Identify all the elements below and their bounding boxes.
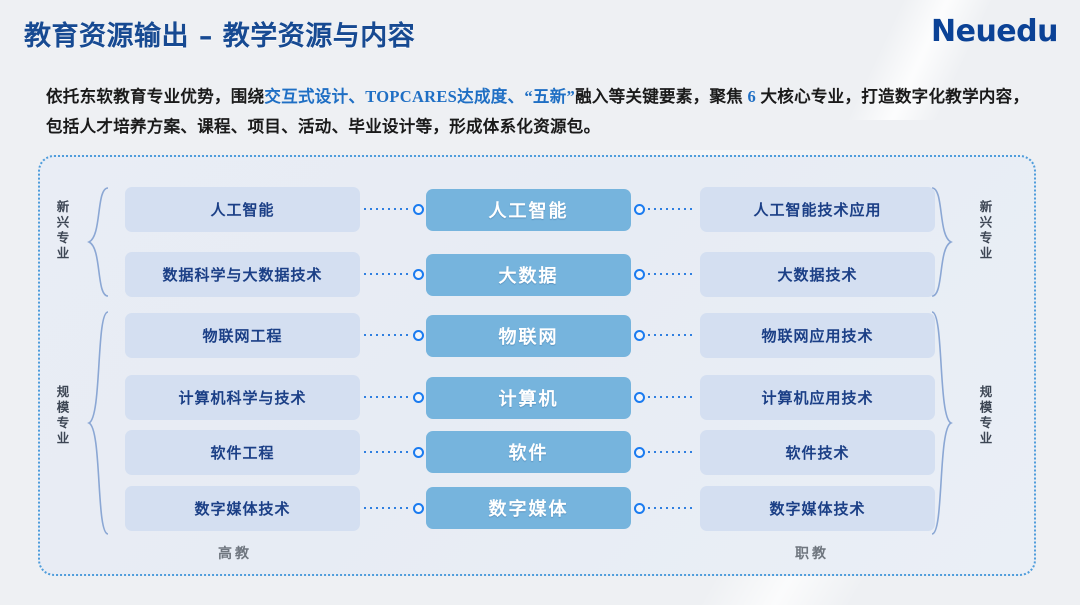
connector-dots	[646, 451, 696, 453]
connector-right-0	[634, 202, 696, 216]
right-node-1[interactable]: 大数据技术	[700, 252, 935, 297]
connector-ring-icon	[413, 392, 424, 403]
connector-dots	[646, 507, 696, 509]
left-node-5[interactable]: 数字媒体技术	[125, 486, 360, 531]
left-node-2[interactable]: 物联网工程	[125, 313, 360, 358]
mid-node-5[interactable]: 数字媒体	[426, 487, 631, 529]
connector-ring-icon	[413, 330, 424, 341]
connector-ring-icon	[634, 330, 645, 341]
group-label-left-emerging: 新兴专业	[55, 200, 68, 270]
connector-right-4	[634, 445, 696, 459]
left-node-1[interactable]: 数据科学与大数据技术	[125, 252, 360, 297]
right-node-5[interactable]: 数字媒体技术	[700, 486, 935, 531]
right-node-2[interactable]: 物联网应用技术	[700, 313, 935, 358]
caption-right: 职教	[795, 543, 829, 563]
mid-node-1[interactable]: 大数据	[426, 254, 631, 296]
group-label-left-scale: 规模专业	[55, 385, 68, 455]
connector-dots	[362, 507, 412, 509]
connector-dots	[362, 273, 412, 275]
left-node-3[interactable]: 计算机科学与技术	[125, 375, 360, 420]
brace-left-scale	[86, 310, 112, 536]
connector-ring-icon	[634, 392, 645, 403]
group-label-right-emerging: 新兴专业	[978, 200, 991, 270]
connector-dots	[646, 273, 696, 275]
mid-node-4[interactable]: 软件	[426, 431, 631, 473]
caption-left: 高教	[218, 543, 252, 563]
resource-mapping-diagram: 新兴专业 规模专业 新兴专业 规模专业 人工智能 人工智能 人工智能技术应用 数…	[0, 0, 1080, 605]
connector-dots	[362, 334, 412, 336]
connector-ring-icon	[634, 269, 645, 280]
right-node-3[interactable]: 计算机应用技术	[700, 375, 935, 420]
connector-right-2	[634, 328, 696, 342]
connector-left-2	[362, 328, 424, 342]
connector-ring-icon	[634, 204, 645, 215]
mid-node-2[interactable]: 物联网	[426, 315, 631, 357]
mid-node-0[interactable]: 人工智能	[426, 189, 631, 231]
connector-ring-icon	[634, 447, 645, 458]
connector-left-3	[362, 390, 424, 404]
connector-left-0	[362, 202, 424, 216]
connector-ring-icon	[413, 269, 424, 280]
connector-ring-icon	[413, 503, 424, 514]
connector-ring-icon	[413, 204, 424, 215]
connector-ring-icon	[634, 503, 645, 514]
brace-left-emerging	[86, 186, 112, 298]
connector-left-4	[362, 445, 424, 459]
left-node-4[interactable]: 软件工程	[125, 430, 360, 475]
connector-right-3	[634, 390, 696, 404]
mid-node-3[interactable]: 计算机	[426, 377, 631, 419]
connector-right-1	[634, 267, 696, 281]
right-node-0[interactable]: 人工智能技术应用	[700, 187, 935, 232]
right-node-4[interactable]: 软件技术	[700, 430, 935, 475]
connector-dots	[362, 396, 412, 398]
left-node-0[interactable]: 人工智能	[125, 187, 360, 232]
connector-right-5	[634, 501, 696, 515]
group-label-right-scale: 规模专业	[978, 385, 991, 455]
connector-left-1	[362, 267, 424, 281]
connector-dots	[646, 396, 696, 398]
connector-dots	[646, 334, 696, 336]
connector-dots	[646, 208, 696, 210]
connector-ring-icon	[413, 447, 424, 458]
connector-dots	[362, 451, 412, 453]
connector-dots	[362, 208, 412, 210]
connector-left-5	[362, 501, 424, 515]
